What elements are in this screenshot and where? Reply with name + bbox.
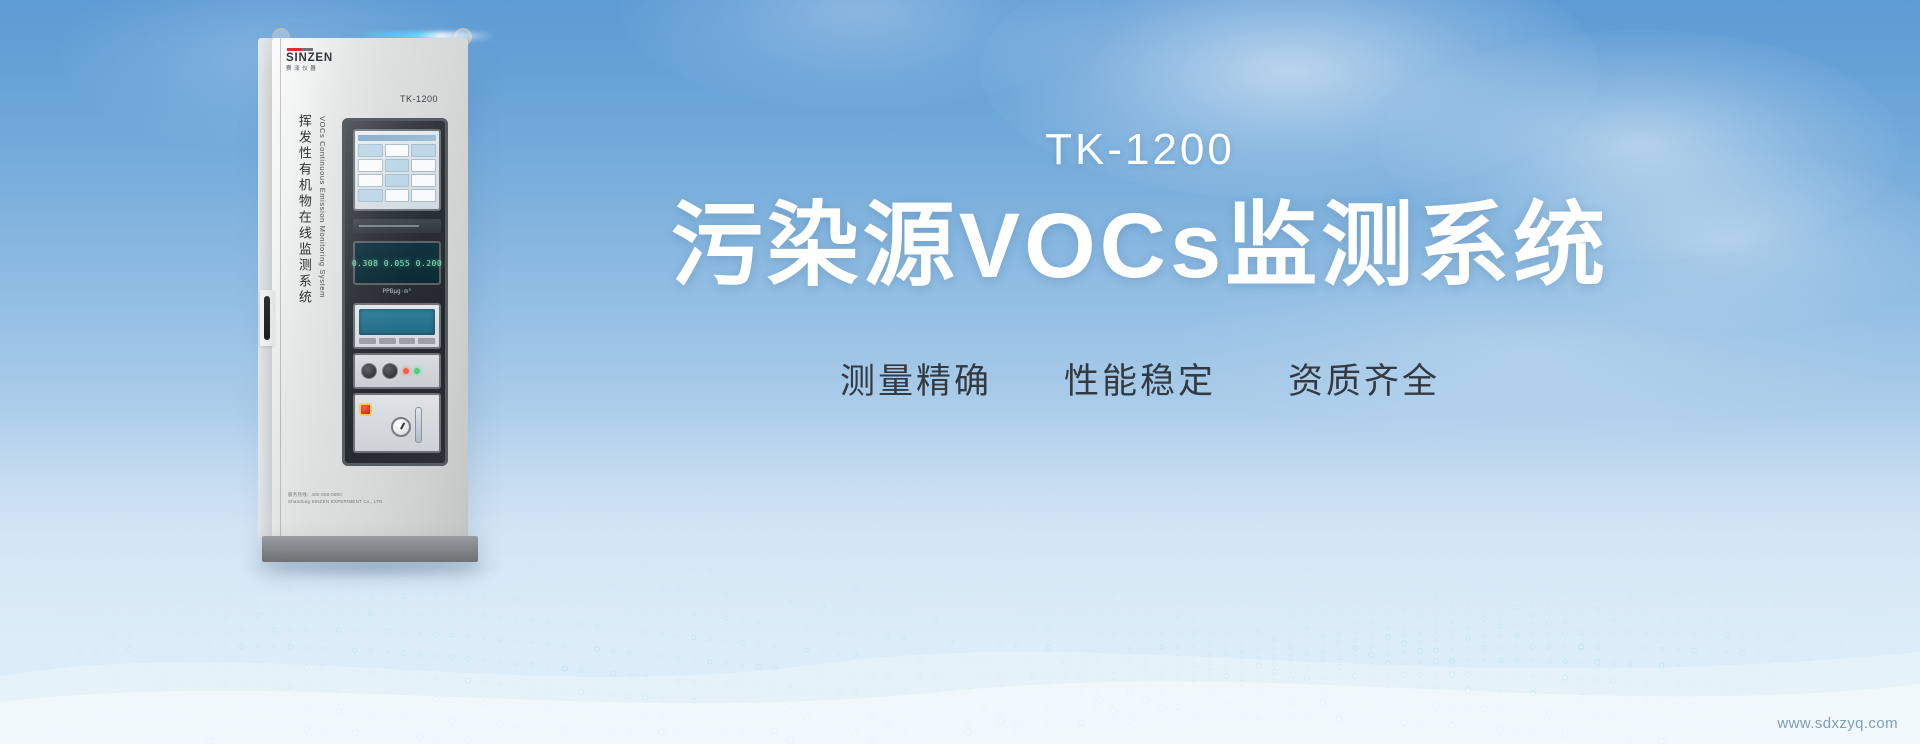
sample-tube: [415, 407, 422, 443]
site-watermark: www.sdxzyq.com: [1777, 715, 1898, 732]
brand-logo-cn: 赛泽仪器: [286, 67, 333, 73]
headline: 污染源VOCs监测系统: [560, 198, 1720, 295]
product-hero-banner: SINZEN 赛泽仪器 TK-1200 挥发性有机物在线监测系统 VOCs Co…: [0, 0, 1920, 744]
feature-item-2: 性能稳定: [1064, 353, 1216, 404]
feature-item-3: 资质齐全: [1288, 353, 1440, 404]
feature-item-1: 测量精确: [840, 353, 992, 404]
cabinet-footnote: 服务热线：400-000-0000 Shandong SINZEN EXPERI…: [288, 492, 383, 506]
hero-copy: TK-1200 污染源VOCs监测系统 测量精确 性能稳定 资质齐全: [560, 128, 1720, 404]
cabinet-vertical-cn-text: 挥发性有机物在线监测系统: [294, 114, 313, 394]
model-line: TK-1200: [560, 128, 1720, 172]
cloud-wisp: [620, 0, 1100, 110]
cabinet-model-label: TK-1200: [400, 94, 438, 104]
cabinet-vertical-en-text: VOCs Continuous Emission Monitoring Syst…: [318, 116, 327, 298]
brand-logo-mark: [287, 48, 313, 51]
cabinet-door-handle: [260, 290, 274, 346]
feature-list: 测量精确 性能稳定 资质齐全: [560, 353, 1720, 404]
product-cabinet: SINZEN 赛泽仪器 TK-1200 挥发性有机物在线监测系统 VOCs Co…: [258, 22, 488, 562]
cabinet-ground-shadow: [242, 558, 504, 578]
cabinet-footnote-line1: 服务热线：400-000-0000: [288, 492, 383, 499]
analyzer-key: [418, 338, 435, 344]
instrument-window: 0.308 0.055 0.200 PPBμg·m³: [342, 118, 448, 466]
cabinet-seam: [280, 38, 281, 538]
brand-logo: SINZEN 赛泽仪器: [286, 48, 333, 72]
status-led-green: [414, 368, 420, 374]
brand-logo-word: SINZEN: [286, 53, 333, 65]
cabinet-footnote-line2: Shandong SINZEN EXPERIMENT Co., LTD: [288, 499, 383, 506]
